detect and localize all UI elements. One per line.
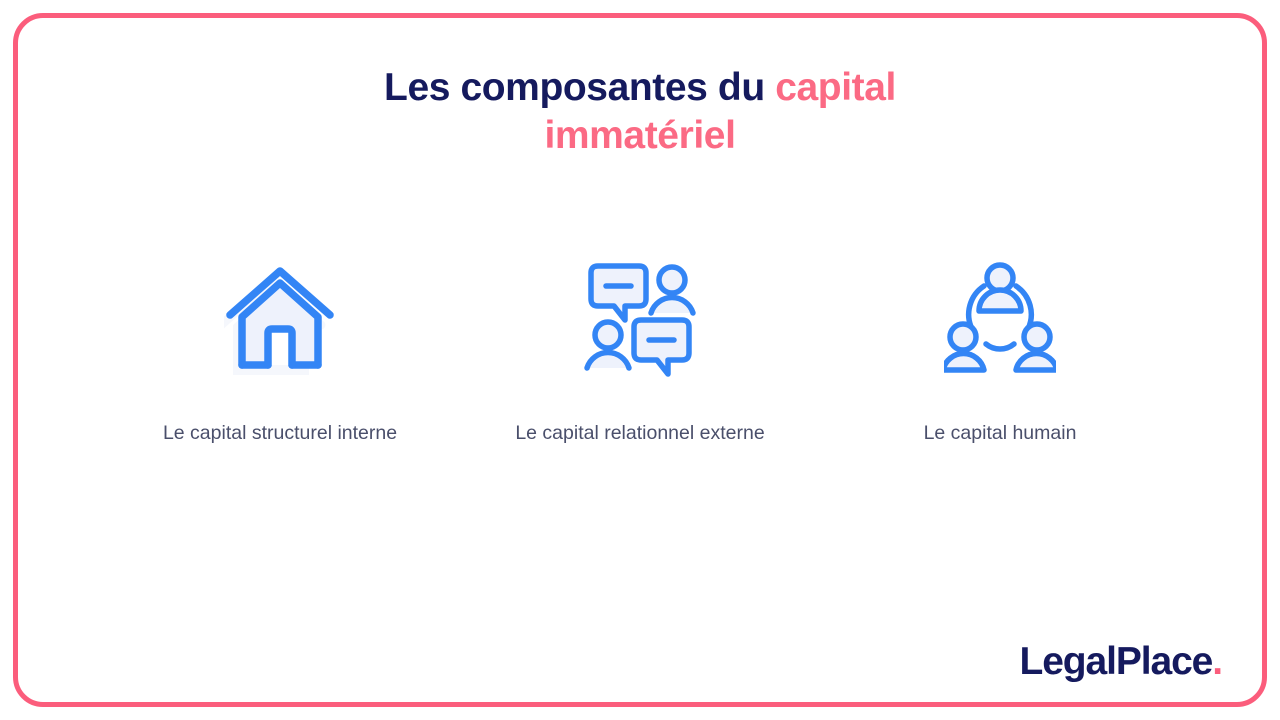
speech-bubbles-people-icon: [575, 250, 705, 385]
component-caption: Le capital structurel interne: [148, 421, 413, 446]
component-structurel-interne: Le capital structurel interne: [120, 250, 440, 446]
component-capital-humain: Le capital humain: [840, 250, 1160, 446]
title-line-2: immatériel: [0, 112, 1280, 160]
title-navy-text: Les composantes du: [384, 66, 775, 109]
logo-dot: .: [1212, 640, 1222, 683]
people-network-icon: [935, 250, 1065, 385]
component-caption: Le capital relationnel externe: [508, 421, 773, 446]
infographic-canvas: Les composantes du capital immatériel: [0, 0, 1280, 720]
component-relationnel-externe: Le capital relationnel externe: [480, 250, 800, 446]
logo-text: LegalPlace: [1019, 640, 1212, 683]
title-pink-text: capital: [775, 66, 896, 109]
title-line-1: Les composantes du capital: [0, 64, 1280, 112]
page-title: Les composantes du capital immatériel: [0, 64, 1280, 159]
house-icon: [215, 250, 345, 385]
legalplace-logo: LegalPlace.: [1019, 640, 1222, 684]
components-row: Le capital structurel interne: [120, 250, 1160, 446]
component-caption: Le capital humain: [868, 421, 1133, 446]
